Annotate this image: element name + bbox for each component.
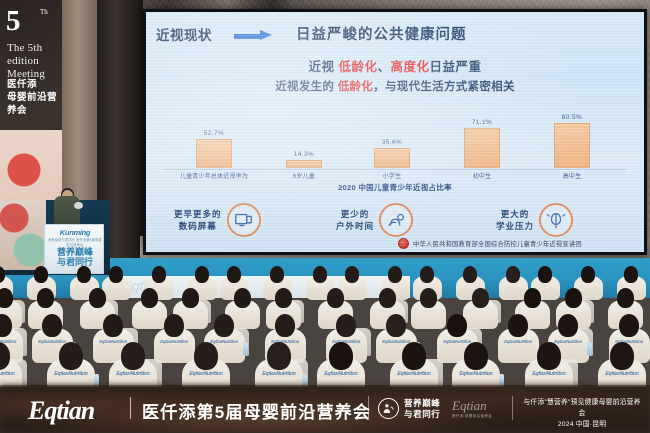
- slide-heading-row: 近视现状 日益严峻的公共健康问题: [156, 24, 634, 46]
- shirt-logo-text: EqtianNutrition: [317, 371, 365, 377]
- audience-member-head: [463, 266, 477, 283]
- screenshot-root: 5 Th The 5th edition Meeting 医仟添 母婴前沿营养会…: [0, 0, 650, 433]
- slide-subtitle-2: 近视发生的 低龄化，与现代生活方式紧密相关: [146, 78, 644, 94]
- study-brain-icon: [539, 203, 573, 237]
- subtitle2-highlight: 低龄化: [338, 81, 373, 93]
- microphone-icon: [74, 202, 83, 209]
- audience-member-head: [141, 288, 158, 308]
- audience-seating: EqtianNutritionEqtianNutritionEqtianNutr…: [0, 262, 650, 387]
- banner-divider-3: [512, 396, 513, 420]
- chart-bar-category-label: 初中生: [440, 171, 524, 180]
- shirt-logo-text: EqtianNutrition: [255, 371, 303, 377]
- chart-bar-category-label: 小学生: [350, 171, 434, 180]
- audience-member-head: [538, 266, 552, 283]
- presentation-slide: 近视现状 日益严峻的公共健康问题 近视 低龄化、高度化日益严重 近视发生的 低龄…: [146, 12, 644, 252]
- chart-bar-category-label: 6岁儿童: [262, 171, 346, 180]
- chart-title: 2020 中国儿童青少年近视占比率: [146, 182, 644, 193]
- shirt-logo-text: EqtianNutrition: [598, 371, 646, 377]
- feature-label-study: 更大的 学业压力: [496, 208, 534, 232]
- audience-member-head: [267, 342, 291, 370]
- audience-member-head: [447, 314, 467, 337]
- banner-logo: Eqtian: [28, 396, 94, 426]
- banner-script-text: Eqtian: [452, 398, 487, 413]
- audience-member-head: [164, 314, 184, 337]
- myopia-bar-chart: 52.7%儿童青少年总体近视率为14.3%6岁儿童35.6%小学生71.1%初中…: [164, 98, 626, 182]
- panel-english-title: The 5th edition Meeting: [7, 42, 63, 81]
- chart-bar-value: 35.6%: [364, 139, 420, 146]
- chart-bar-category-label: 高中生: [530, 171, 614, 180]
- audience-member-head: [195, 266, 209, 283]
- outdoor-tree-icon: [379, 203, 413, 237]
- audience-member-head: [565, 288, 582, 308]
- audience-member-head: [379, 288, 396, 308]
- nutrition-summit-icon: [378, 398, 399, 419]
- banner-slogan-line2: 与君同行: [404, 409, 440, 420]
- chart-bar: [286, 160, 322, 168]
- panel-chinese-title: 医仟添 母婴前沿营养会: [7, 78, 65, 117]
- podium-brand-text: Kunming: [48, 228, 102, 237]
- credit-text: 中华人民共和国教育部全国综合防控儿童青少年近视宣讲团: [413, 239, 582, 248]
- subtitle1-mid: 、: [377, 60, 390, 74]
- audience-member-head: [388, 266, 402, 283]
- audience-member-head: [386, 314, 406, 337]
- audience-member-head: [464, 342, 488, 370]
- chart-bar-value: 80.5%: [544, 114, 600, 121]
- subtitle1-pre: 近视: [308, 60, 338, 74]
- audience-member-head: [402, 342, 426, 370]
- water-bottle: [587, 342, 592, 355]
- audience-member-head: [0, 288, 13, 308]
- right-arrow-icon: [234, 30, 274, 41]
- audience-member-head: [121, 342, 145, 370]
- audience-member-head: [103, 314, 123, 337]
- audience-member-head: [420, 288, 437, 308]
- shirt-logo-text: EqtianNutrition: [390, 371, 438, 377]
- audience-member-head: [619, 314, 639, 337]
- audience-member-head: [420, 266, 434, 283]
- subtitle1-highlight-1: 低龄化: [338, 60, 377, 74]
- chart-bar: [464, 128, 500, 168]
- audience-member-head: [234, 288, 251, 308]
- audience-member-head: [77, 266, 91, 283]
- chart-bar-value: 52.7%: [186, 130, 242, 137]
- shirt-logo-text: EqtianNutrition: [109, 371, 157, 377]
- banner-event-line2: 2024 中国·昆明: [520, 419, 644, 430]
- shirt-logo-text: EqtianNutrition: [182, 371, 230, 377]
- audience-member-head: [581, 266, 595, 283]
- audience-member-head: [152, 266, 166, 283]
- banner-slogan: 营养巅峰 与君同行: [404, 398, 440, 420]
- audience-member-head: [336, 314, 356, 337]
- feature-item-screens: 更早更多的 数码屏幕: [174, 198, 261, 242]
- stage-backdrop-artwork: [0, 200, 46, 270]
- audience-member-head: [270, 266, 284, 283]
- chart-baseline: [164, 169, 626, 170]
- banner-event-line1: 与仟添"慧营养"预见健康母婴前沿营养会: [520, 397, 644, 419]
- banner-script-logo: Eqtian 医仟添 母婴前沿营养会: [452, 398, 492, 419]
- audience-member-head: [329, 342, 353, 370]
- chart-bar: [374, 148, 410, 168]
- podium-subtext: 营养巅峰与君同行 医仟添第5届母婴前沿营养会: [48, 237, 102, 247]
- audience-member-head: [109, 266, 123, 283]
- shirt-logo-text: EqtianNutrition: [525, 371, 573, 377]
- audience-member-head: [275, 288, 292, 308]
- shirt-logo-text: EqtianNutrition: [0, 371, 22, 377]
- feature-item-outdoor: 更少的 户外时间: [336, 198, 413, 242]
- banner-title: 医仟添第5届母婴前沿营养会: [142, 398, 371, 423]
- chart-bar-category-label: 儿童青少年总体近视率为: [172, 171, 256, 180]
- cause-feature-row: 更早更多的 数码屏幕 更少的 户外时间: [174, 198, 616, 242]
- audience-member-head: [506, 266, 520, 283]
- subtitle2-pre: 近视发生的: [275, 81, 338, 93]
- chart-bar: [196, 139, 232, 169]
- slide-heading-left: 近视现状: [156, 24, 212, 44]
- audience-member-head: [42, 314, 62, 337]
- banner-divider-1: [130, 397, 131, 419]
- audience-member-head: [610, 342, 634, 370]
- national-emblem-icon: [398, 238, 409, 249]
- audience-member-head: [508, 314, 528, 337]
- audience-member-head: [275, 314, 295, 337]
- slide-heading-title: 日益严峻的公共健康问题: [296, 23, 467, 44]
- audience-member-head: [537, 342, 561, 370]
- shirt-logo-text: EqtianNutrition: [498, 339, 539, 344]
- audience-member-head: [194, 342, 218, 370]
- feature-label-screens: 更早更多的 数码屏幕: [174, 208, 222, 232]
- feature-label-outdoor: 更少的 户外时间: [336, 208, 374, 232]
- banner-script-sub: 医仟添 母婴前沿营养会: [452, 414, 492, 419]
- subtitle2-post: ，与现代生活方式紧密相关: [373, 81, 515, 93]
- audience-member-head: [472, 288, 489, 308]
- audience-member-head: [37, 288, 54, 308]
- audience-member-head: [327, 288, 344, 308]
- slide-subtitle-1: 近视 低龄化、高度化日益严重: [146, 56, 644, 75]
- audience-member-head: [617, 288, 634, 308]
- edition-ordinal-suffix: Th: [40, 8, 48, 16]
- audience-member-head: [524, 288, 541, 308]
- audience-member-head: [345, 266, 359, 283]
- audience-member-head: [558, 314, 578, 337]
- audience-member-head: [59, 342, 83, 370]
- audience-member-head: [624, 266, 638, 283]
- subtitle1-post: 日益严重: [430, 60, 482, 74]
- water-bottle: [243, 342, 248, 355]
- shirt-logo-text: EqtianNutrition: [154, 339, 195, 344]
- audience-member-head: [227, 266, 241, 283]
- banner-event-info: 与仟添"慧营养"预见健康母婴前沿营养会 2024 中国·昆明: [520, 397, 644, 430]
- chart-bar-value: 71.1%: [454, 119, 510, 126]
- chart-bar-value: 14.3%: [276, 151, 332, 158]
- audience-member-head: [89, 288, 106, 308]
- shirt-logo-text: EqtianNutrition: [47, 371, 95, 377]
- shirt-logo-text: EqtianNutrition: [452, 371, 500, 377]
- feature-item-study: 更大的 学业压力: [496, 198, 573, 242]
- monitor-screen-icon: [227, 203, 261, 237]
- audience-member-head: [214, 314, 234, 337]
- audience-member-head: [182, 288, 199, 308]
- audience-member-head: [313, 266, 327, 283]
- slide-credit: 中华人民共和国教育部全国综合防控儿童青少年近视宣讲团: [398, 238, 636, 249]
- chart-bar: [554, 123, 590, 168]
- subtitle1-highlight-2: 高度化: [390, 60, 429, 74]
- audience-member-head: [34, 266, 48, 283]
- banner-slogan-line1: 营养巅峰: [404, 398, 440, 409]
- banner-divider-2: [368, 396, 369, 420]
